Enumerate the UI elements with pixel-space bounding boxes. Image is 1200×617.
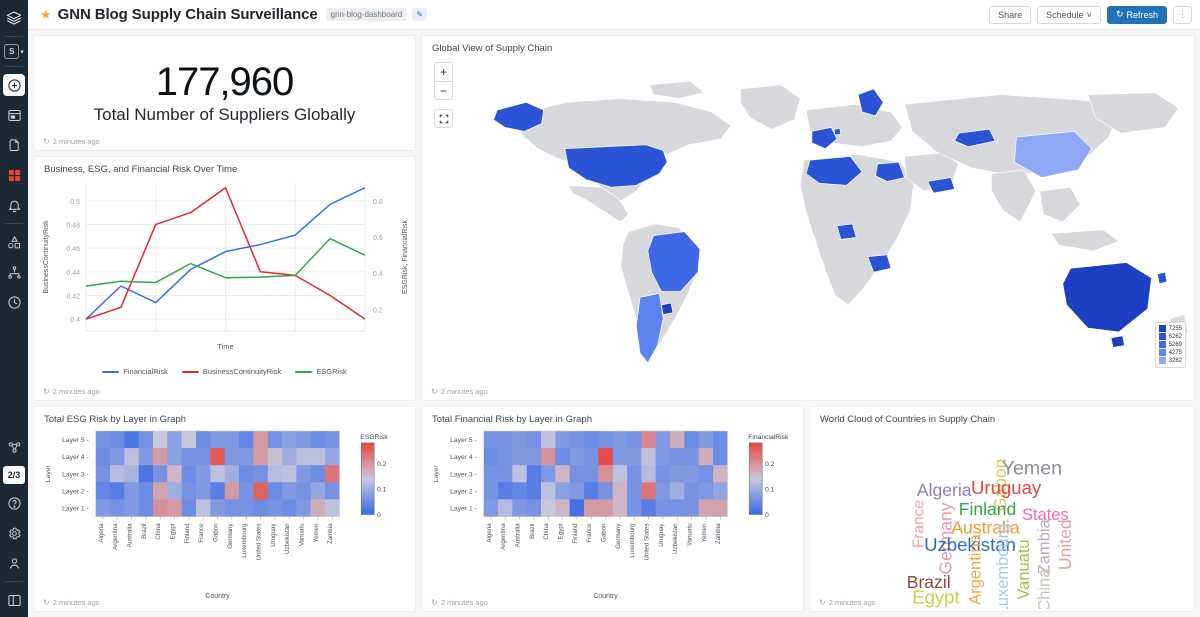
- map-card[interactable]: Global View of Supply Chain + − 72556262…: [421, 35, 1195, 401]
- sidebar-item-apps[interactable]: [3, 164, 25, 186]
- svg-text:Layer: Layer: [433, 465, 440, 483]
- kpi-caption: Total Number of Suppliers Globally: [94, 105, 356, 125]
- map-fullscreen-button[interactable]: [434, 109, 453, 128]
- svg-text:Uruguay: Uruguay: [658, 523, 665, 547]
- pencil-icon[interactable]: ✎: [412, 8, 427, 21]
- chevron-down-icon: ▾: [20, 48, 24, 56]
- svg-text:Layer 2 -: Layer 2 -: [450, 488, 477, 495]
- word-cloud-card[interactable]: World Cloud of Countries in Supply Chain…: [809, 406, 1195, 612]
- svg-text:Egypt: Egypt: [558, 523, 565, 539]
- svg-text:0.5: 0.5: [70, 199, 80, 206]
- legend-value: 4275: [1169, 349, 1182, 357]
- svg-text:Finland: Finland: [184, 523, 191, 544]
- stamp-text: 2 minutes ago: [441, 387, 488, 396]
- chevron-down-icon: ˅: [1087, 10, 1092, 20]
- svg-text:0.2: 0.2: [765, 461, 774, 468]
- map-legend-row: 3282: [1159, 357, 1182, 365]
- refresh-button[interactable]: ↻ Refresh: [1107, 6, 1167, 24]
- stamp-text: 2 minutes ago: [829, 598, 876, 607]
- sidebar-item-documents[interactable]: [3, 134, 25, 156]
- word-cloud-word[interactable]: Finland: [959, 499, 1017, 519]
- divider: [5, 223, 23, 224]
- legend-swatch: [1159, 349, 1166, 356]
- word-cloud-title: World Cloud of Countries in Supply Chain: [810, 407, 1194, 425]
- word-cloud-word[interactable]: Algeria: [917, 480, 972, 500]
- refresh-icon: ↻: [43, 598, 50, 607]
- svg-text:0.2: 0.2: [373, 307, 383, 314]
- top-bar: ★ GNN Blog Supply Chain Surveillance gnn…: [28, 0, 1200, 30]
- refresh-icon: ↻: [431, 598, 438, 607]
- refresh-stamp: ↻ 2 minutes ago: [431, 598, 488, 607]
- divider: [5, 36, 23, 37]
- svg-text:0: 0: [765, 512, 769, 519]
- svg-text:ESGRisk: ESGRisk: [360, 434, 388, 441]
- sidebar-item-shapes[interactable]: [3, 231, 25, 253]
- word-cloud-word[interactable]: Zambia: [1035, 518, 1053, 574]
- legend-label: ESGRisk: [316, 367, 346, 376]
- map-zoom-out-button[interactable]: −: [434, 81, 453, 100]
- schedule-label: Schedule: [1046, 10, 1084, 20]
- more-options-button[interactable]: ⋮: [1173, 6, 1192, 24]
- svg-text:Egypt: Egypt: [170, 523, 177, 539]
- legend-value: 3282: [1169, 357, 1182, 365]
- svg-text:BusinessContinuityRisk: BusinessContinuityRisk: [43, 220, 50, 294]
- svg-text:0.4: 0.4: [373, 271, 383, 278]
- svg-text:Layer 4 -: Layer 4 -: [62, 454, 89, 461]
- sidebar-item-dashboards[interactable]: [3, 104, 25, 126]
- sidebar-item-hierarchy[interactable]: [3, 261, 25, 283]
- word-cloud-word[interactable]: Argentina: [966, 533, 984, 604]
- word-cloud-word[interactable]: Egypt: [912, 587, 960, 608]
- dashboard-row-2: Total ESG Risk by Layer in Graph Layer 5…: [33, 406, 1195, 612]
- financial-heatmap-title: Total Financial Risk by Layer in Graph: [422, 407, 803, 425]
- map-zoom-in-button[interactable]: +: [434, 62, 453, 81]
- map-legend-row: 5269: [1159, 341, 1182, 349]
- legend-swatch: [182, 371, 199, 373]
- line-chart-svg[interactable]: 0.40.420.440.460.480.50.20.40.60.8TimeBu…: [34, 173, 416, 373]
- svg-text:Australia: Australia: [515, 523, 522, 548]
- svg-text:Layer 3 -: Layer 3 -: [62, 471, 89, 478]
- kpi-card[interactable]: 177,960 Total Number of Suppliers Global…: [33, 35, 416, 151]
- stamp-text: 2 minutes ago: [53, 137, 100, 146]
- svg-text:China: China: [155, 523, 162, 540]
- workspace-icon: S: [4, 44, 19, 59]
- svg-text:Finland: Finland: [572, 523, 579, 544]
- financial-heatmap-svg[interactable]: Layer 5 -Layer 4 -Layer 3 -Layer 2 -Laye…: [426, 425, 799, 602]
- svg-text:France: France: [198, 523, 205, 543]
- svg-text:Yemen: Yemen: [313, 523, 320, 543]
- sidebar-item-history[interactable]: [3, 291, 25, 313]
- map-zoom-controls: + −: [434, 62, 453, 128]
- svg-text:Australia: Australia: [127, 523, 134, 548]
- svg-text:0.1: 0.1: [377, 486, 386, 493]
- share-button[interactable]: Share: [989, 6, 1031, 24]
- svg-text:Layer 5 -: Layer 5 -: [62, 437, 89, 444]
- legend-item[interactable]: BusinessContinuityRisk: [182, 367, 281, 376]
- svg-text:Uruguay: Uruguay: [270, 523, 277, 547]
- svg-text:Vanuatu: Vanuatu: [299, 523, 306, 546]
- svg-text:0.48: 0.48: [66, 222, 80, 229]
- svg-text:Layer 1 -: Layer 1 -: [62, 506, 89, 513]
- refresh-icon: ↻: [1116, 9, 1124, 20]
- word-cloud-word[interactable]: China: [1035, 568, 1053, 609]
- svg-text:Yemen: Yemen: [701, 523, 708, 543]
- svg-text:France: France: [586, 523, 593, 543]
- stamp-text: 2 minutes ago: [53, 598, 100, 607]
- legend-swatch: [102, 371, 119, 373]
- svg-text:Country: Country: [593, 593, 618, 600]
- dashboard-row-1: 177,960 Total Number of Suppliers Global…: [33, 35, 1195, 401]
- top-actions: Share Schedule ˅ ↻ Refresh ⋮: [989, 6, 1192, 24]
- layers-icon[interactable]: [3, 7, 25, 29]
- svg-text:Layer 2 -: Layer 2 -: [62, 488, 89, 495]
- refresh-stamp: ↻ 2 minutes ago: [819, 598, 876, 607]
- svg-text:0.2: 0.2: [377, 461, 386, 468]
- svg-text:Luxembourg: Luxembourg: [241, 523, 248, 558]
- legend-swatch: [1159, 341, 1166, 348]
- legend-swatch: [1159, 357, 1166, 364]
- legend-value: 6262: [1169, 333, 1182, 341]
- legend-value: 5269: [1169, 341, 1182, 349]
- svg-text:0: 0: [377, 512, 381, 519]
- refresh-label: Refresh: [1126, 10, 1158, 20]
- esg-heatmap-svg[interactable]: Layer 5 -Layer 4 -Layer 3 -Layer 2 -Laye…: [38, 425, 411, 602]
- refresh-icon: ↻: [431, 387, 438, 396]
- divider: [5, 66, 23, 67]
- dashboard-slug-chip: gnn-blog-dashboard: [326, 8, 408, 21]
- map-legend-row: 4275: [1159, 349, 1182, 357]
- word-cloud-word[interactable]: Vanuatu: [1015, 539, 1033, 599]
- svg-text:United States: United States: [644, 523, 651, 560]
- svg-text:Germany: Germany: [615, 523, 622, 549]
- svg-text:Zambia: Zambia: [327, 523, 334, 544]
- svg-text:0.46: 0.46: [66, 246, 80, 253]
- svg-text:Algeria: Algeria: [98, 523, 105, 543]
- refresh-stamp: ↻ 2 minutes ago: [431, 387, 488, 396]
- sidebar-item-graph-explorer[interactable]: [3, 436, 25, 458]
- map-title: Global View of Supply Chain: [422, 36, 1194, 54]
- map-legend-row: 7255: [1159, 325, 1182, 333]
- legend-swatch: [1159, 325, 1166, 332]
- main-area: ★ GNN Blog Supply Chain Surveillance gnn…: [28, 0, 1200, 617]
- svg-text:0.8: 0.8: [373, 199, 383, 206]
- kpi-value: 177,960: [156, 61, 294, 103]
- legend-value: 7255: [1169, 325, 1182, 333]
- sidebar-item-add-new[interactable]: [3, 74, 25, 96]
- svg-text:Argentina: Argentina: [112, 523, 119, 550]
- svg-text:Layer 4 -: Layer 4 -: [450, 454, 477, 461]
- line-chart-legend: FinancialRiskBusinessContinuityRiskESGRi…: [34, 367, 415, 376]
- word-cloud-svg[interactable]: GabonYemenAlgeriaUruguayFranceGermanyFin…: [810, 425, 1194, 609]
- svg-text:0.44: 0.44: [66, 270, 80, 277]
- svg-text:Brazil: Brazil: [141, 523, 148, 538]
- svg-text:Gabon: Gabon: [213, 523, 220, 542]
- capacity-badge[interactable]: 2/3: [3, 466, 25, 484]
- legend-swatch: [295, 371, 312, 373]
- app-root: S ▾: [0, 0, 1200, 617]
- line-chart-card[interactable]: Business, ESG, and Financial Risk Over T…: [33, 156, 416, 401]
- legend-swatch: [1159, 333, 1166, 340]
- svg-text:Vanuatu: Vanuatu: [687, 523, 694, 546]
- sidebar-item-settings[interactable]: [3, 522, 25, 544]
- svg-text:Zambia: Zambia: [715, 523, 722, 544]
- svg-text:Layer 5 -: Layer 5 -: [450, 437, 477, 444]
- financial-heatmap-card[interactable]: Total Financial Risk by Layer in Graph L…: [421, 406, 804, 612]
- svg-text:Layer 3 -: Layer 3 -: [450, 471, 477, 478]
- refresh-stamp: ↻ 2 minutes ago: [43, 137, 100, 146]
- schedule-button[interactable]: Schedule ˅: [1037, 6, 1101, 24]
- svg-text:Argentina: Argentina: [500, 523, 507, 550]
- svg-text:ESGRisk, FinancialRisk: ESGRisk, FinancialRisk: [402, 220, 409, 294]
- sidebar-item-help[interactable]: [3, 492, 25, 514]
- word-cloud-word[interactable]: Luxembourg: [994, 524, 1012, 609]
- svg-text:Gabon: Gabon: [601, 523, 608, 542]
- svg-text:Germany: Germany: [227, 523, 234, 549]
- svg-text:Algeria: Algeria: [486, 523, 493, 543]
- refresh-icon: ↻: [819, 598, 826, 607]
- svg-text:China: China: [543, 523, 550, 540]
- esg-heatmap-card[interactable]: Total ESG Risk by Layer in Graph Layer 5…: [33, 406, 416, 612]
- world-map-svg[interactable]: [422, 56, 1194, 401]
- svg-text:Luxembourg: Luxembourg: [629, 523, 636, 558]
- svg-text:Brazil: Brazil: [529, 523, 536, 538]
- refresh-icon: ↻: [43, 387, 50, 396]
- svg-text:Time: Time: [217, 342, 233, 351]
- page-title: GNN Blog Supply Chain Surveillance: [58, 6, 318, 23]
- svg-text:FinancialRisk: FinancialRisk: [748, 434, 789, 441]
- refresh-icon: ↻: [43, 137, 50, 146]
- sidebar-item-alerts[interactable]: [3, 194, 25, 216]
- left-sidebar: S ▾: [0, 0, 28, 617]
- word-cloud-word[interactable]: United: [1055, 519, 1075, 570]
- word-cloud-word[interactable]: Uruguay: [971, 477, 1042, 498]
- svg-text:0.42: 0.42: [66, 293, 80, 300]
- svg-text:Uzbekistan: Uzbekistan: [284, 523, 291, 554]
- legend-item[interactable]: FinancialRisk: [102, 367, 168, 376]
- svg-text:Layer: Layer: [45, 465, 52, 483]
- refresh-stamp: ↻ 2 minutes ago: [43, 387, 100, 396]
- map-legend-row: 6262: [1159, 333, 1182, 341]
- sidebar-item-profile[interactable]: [3, 552, 25, 574]
- svg-text:Layer 1 -: Layer 1 -: [450, 506, 477, 513]
- legend-item[interactable]: ESGRisk: [295, 367, 346, 376]
- svg-text:Uzbekistan: Uzbekistan: [672, 523, 679, 554]
- svg-text:United States: United States: [256, 523, 263, 560]
- stamp-text: 2 minutes ago: [441, 598, 488, 607]
- divider: [5, 581, 23, 582]
- map-legend: 72556262526942753282: [1155, 322, 1186, 368]
- sidebar-item-workspace-selector[interactable]: S ▾: [4, 40, 24, 63]
- star-icon[interactable]: ★: [40, 7, 52, 23]
- svg-text:Country: Country: [205, 593, 230, 600]
- workspace-letter: S: [9, 47, 14, 56]
- legend-label: FinancialRisk: [123, 367, 168, 376]
- stamp-text: 2 minutes ago: [53, 387, 100, 396]
- refresh-stamp: ↻ 2 minutes ago: [43, 598, 100, 607]
- esg-heatmap-title: Total ESG Risk by Layer in Graph: [34, 407, 415, 425]
- svg-text:0.4: 0.4: [70, 317, 80, 324]
- sidebar-item-toggle-panel[interactable]: [3, 589, 25, 611]
- svg-text:0.1: 0.1: [765, 486, 774, 493]
- left-column: 177,960 Total Number of Suppliers Global…: [33, 35, 416, 401]
- svg-text:0.6: 0.6: [373, 235, 383, 242]
- dashboard-content: 177,960 Total Number of Suppliers Global…: [28, 30, 1200, 617]
- legend-label: BusinessContinuityRisk: [203, 367, 281, 376]
